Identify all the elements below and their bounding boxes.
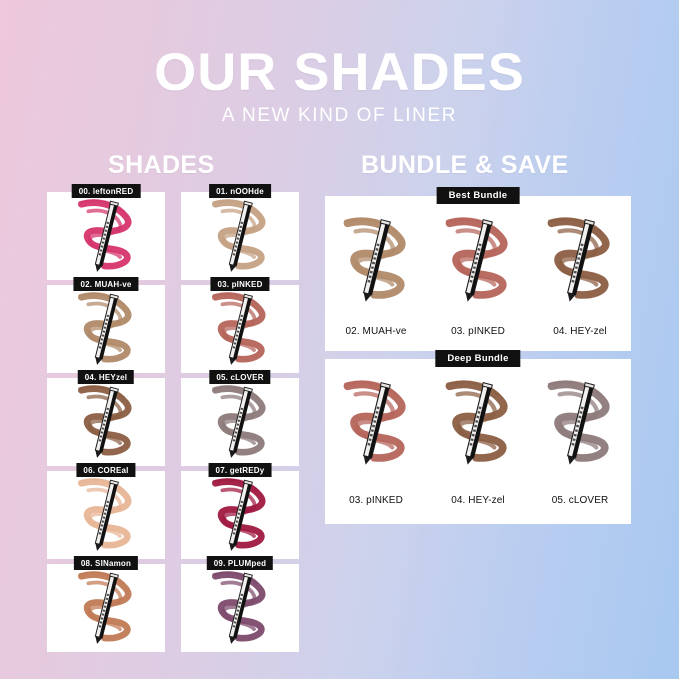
shades-section-heading: SHADES — [108, 151, 215, 180]
shade-swatch-art — [325, 208, 427, 312]
bundle-swatch — [529, 371, 631, 475]
shade-name-badge: 01. nOOHde — [209, 184, 271, 198]
shade-swatch-art — [427, 371, 529, 475]
shade-tile[interactable]: 08. SINamon — [47, 564, 165, 652]
bundle-item-row: 02. MUAH-ve03. pINKED04. HEY-zel — [325, 206, 631, 351]
shade-swatch — [181, 192, 299, 280]
shade-name-badge: 00. leftonRED — [72, 184, 141, 198]
bundle-swatch — [427, 371, 529, 475]
bundle-section-heading: BUNDLE & SAVE — [361, 151, 569, 180]
shade-swatch-art — [529, 371, 631, 475]
page-title: OUR SHADES — [0, 46, 679, 99]
shade-name-badge: 03. pINKED — [210, 277, 269, 291]
shade-swatch — [47, 564, 165, 652]
bundle-swatch — [325, 208, 427, 312]
shade-swatch-art — [181, 192, 299, 280]
shade-swatch-art — [529, 208, 631, 312]
bundle-item[interactable]: 03. pINKED — [427, 206, 529, 351]
shade-swatch-art — [47, 471, 165, 559]
shade-swatch-art — [181, 285, 299, 373]
bundle-item-label: 03. pINKED — [427, 326, 529, 337]
shade-tile[interactable]: 01. nOOHde — [181, 192, 299, 280]
shade-swatch — [181, 564, 299, 652]
shade-tile[interactable]: 09. PLUMped — [181, 564, 299, 652]
bundle-item-row: 03. pINKED04. HEY-zel05. cLOVER — [325, 369, 631, 524]
shade-swatch — [47, 192, 165, 280]
shade-swatch — [181, 471, 299, 559]
poster-header: OUR SHADES A NEW KIND OF LINER — [0, 46, 679, 127]
page-subtitle: A NEW KIND OF LINER — [0, 105, 679, 127]
bundle-item-label: 04. HEY-zel — [529, 326, 631, 337]
bundle-item-label: 04. HEY-zel — [427, 495, 529, 506]
shade-swatch-art — [47, 378, 165, 466]
bundle-swatch — [529, 208, 631, 312]
bundle-item[interactable]: 02. MUAH-ve — [325, 206, 427, 351]
shade-swatch-art — [181, 564, 299, 652]
bundle-item[interactable]: 05. cLOVER — [529, 369, 631, 524]
shade-swatch-art — [47, 564, 165, 652]
shade-swatch — [181, 285, 299, 373]
shade-swatch — [181, 378, 299, 466]
bundle-name-badge: Best Bundle — [437, 187, 520, 204]
shade-swatch-art — [47, 285, 165, 373]
shade-tile[interactable]: 07. getREDy — [181, 471, 299, 559]
shade-swatch-art — [181, 471, 299, 559]
shade-name-badge: 06. COREal — [76, 463, 135, 477]
shade-name-badge: 08. SINamon — [74, 556, 138, 570]
shade-tile[interactable]: 00. leftonRED — [47, 192, 165, 280]
shade-name-badge: 02. MUAH-ve — [73, 277, 138, 291]
bundle-card-deep[interactable]: Deep Bundle03. pINKED04. HEY-zel05. cLOV… — [325, 359, 631, 524]
bundle-item[interactable]: 04. HEY-zel — [427, 369, 529, 524]
shade-swatch-art — [427, 208, 529, 312]
shades-grid: 00. leftonRED01. nOOHde02. MUAH-ve03. pI… — [47, 192, 299, 655]
bundle-item[interactable]: 04. HEY-zel — [529, 206, 631, 351]
bundle-item-label: 03. pINKED — [325, 495, 427, 506]
shade-tile[interactable]: 05. cLOVER — [181, 378, 299, 466]
poster-canvas: OUR SHADES A NEW KIND OF LINER SHADES BU… — [0, 0, 679, 679]
shade-tile[interactable]: 02. MUAH-ve — [47, 285, 165, 373]
bundle-item[interactable]: 03. pINKED — [325, 369, 427, 524]
bundle-item-label: 02. MUAH-ve — [325, 326, 427, 337]
shade-swatch-art — [47, 192, 165, 280]
shade-tile[interactable]: 03. pINKED — [181, 285, 299, 373]
bundle-swatch — [325, 371, 427, 475]
bundle-card-best[interactable]: Best Bundle02. MUAH-ve03. pINKED04. HEY-… — [325, 196, 631, 351]
shade-swatch-art — [181, 378, 299, 466]
shade-swatch — [47, 285, 165, 373]
shade-name-badge: 07. getREDy — [209, 463, 272, 477]
bundle-name-badge: Deep Bundle — [435, 350, 520, 367]
bundle-swatch — [427, 208, 529, 312]
shade-name-badge: 05. cLOVER — [209, 370, 270, 384]
shade-swatch — [47, 378, 165, 466]
shade-tile[interactable]: 04. HEYzel — [47, 378, 165, 466]
shade-name-badge: 04. HEYzel — [78, 370, 134, 384]
shade-name-badge: 09. PLUMped — [207, 556, 273, 570]
bundle-item-label: 05. cLOVER — [529, 495, 631, 506]
shade-tile[interactable]: 06. COREal — [47, 471, 165, 559]
shade-swatch-art — [325, 371, 427, 475]
shade-swatch — [47, 471, 165, 559]
